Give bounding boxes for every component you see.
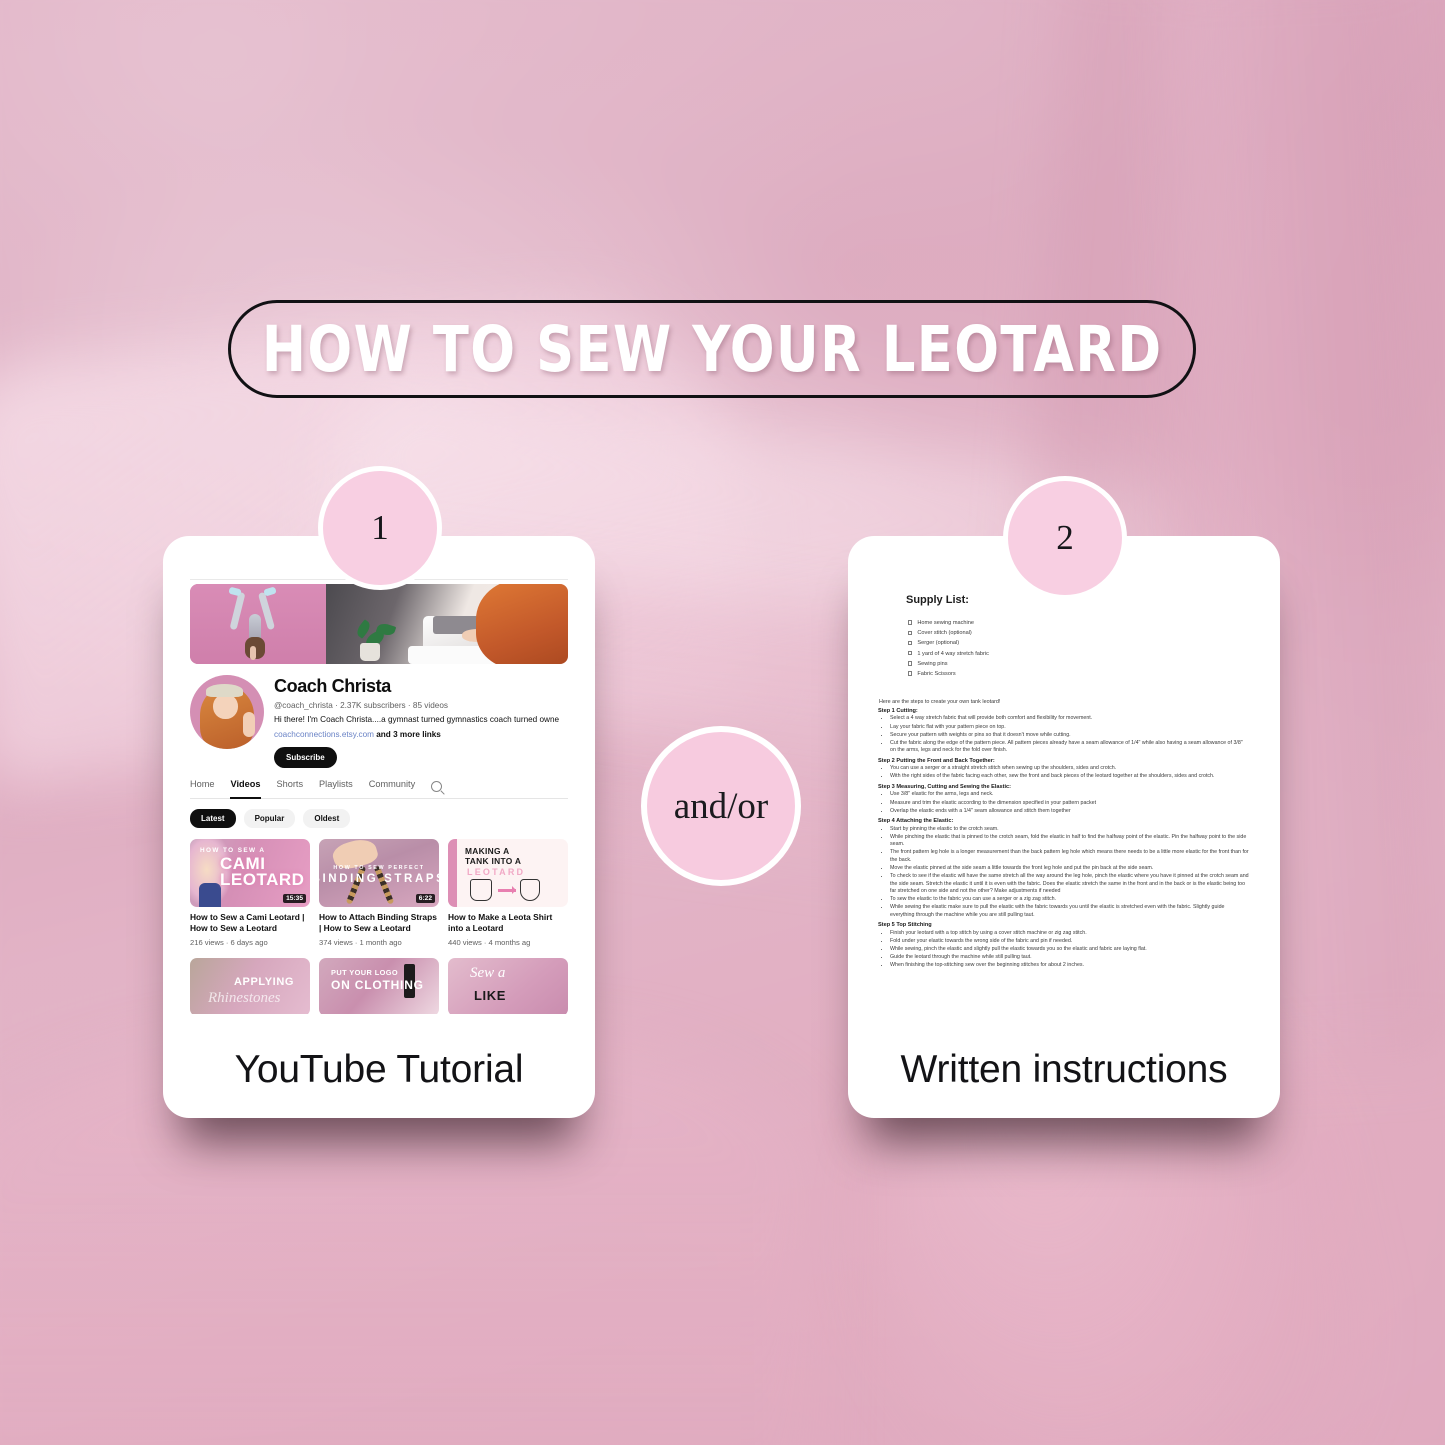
step-block: Step 3 Measuring, Cutting and Sewing the…	[878, 784, 1250, 815]
channel-tabs: Home Videos Shorts Playlists Community	[190, 779, 568, 799]
thumbnail-line-2: TANK INTO A	[465, 856, 521, 866]
youtube-tutorial-card[interactable]: Coach Christa @coach_christa · 2.37K sub…	[163, 536, 595, 1118]
step-block: Step 5 Top Stitching Finish your leotard…	[878, 922, 1250, 969]
and-or-connector: and/or	[641, 726, 801, 886]
step-block: Step 1 Cutting: Select a 4 way stretch f…	[878, 708, 1250, 755]
thumbnail-word: LEOTARD	[467, 867, 525, 877]
banner-gymnast-photo	[190, 584, 326, 664]
youtube-screenshot: Coach Christa @coach_christa · 2.37K sub…	[190, 564, 568, 1014]
checkbox-icon[interactable]	[908, 671, 912, 675]
list-item: To sew the elastic to the fabric you can…	[890, 896, 1250, 904]
tab-home[interactable]: Home	[190, 779, 215, 793]
step-badge-1: 1	[318, 466, 442, 590]
step-heading: Step 5 Top Stitching	[878, 922, 1250, 928]
chip-oldest[interactable]: Oldest	[303, 809, 350, 828]
chip-popular[interactable]: Popular	[244, 809, 296, 828]
list-item: 1 yard of 4 way stretch fabric	[908, 651, 1250, 657]
list-item: The front pattern leg hole is a longer m…	[890, 849, 1250, 864]
thumbnail-word: APPLYING	[234, 976, 294, 988]
list-item: When finishing the top-stitching sew ove…	[890, 962, 1250, 970]
list-item: With the right sides of the fabric facin…	[890, 773, 1250, 781]
thumbnail-line-2: ON CLOTHING	[331, 978, 424, 992]
written-card-caption: Written instructions	[848, 1048, 1280, 1092]
supply-item-label: Serger (optional)	[917, 640, 959, 646]
thumbnail-script: Sew a	[470, 965, 505, 982]
list-item: Home sewing machine	[908, 620, 1250, 626]
tab-videos[interactable]: Videos	[231, 779, 261, 793]
video-duration: 6:22	[416, 894, 435, 903]
list-item: Use 3/8" elastic for the arms, legs and …	[890, 791, 1250, 799]
thumbnail-main-text: BINDING STRAPS	[319, 873, 439, 885]
list-item: While pinching the elastic that is pinne…	[890, 834, 1250, 849]
step-bullets: Select a 4 way stretch fabric that will …	[890, 715, 1250, 754]
step-heading: Step 2 Putting the Front and Back Togeth…	[878, 758, 1250, 764]
thumbnail-line-1: PUT YOUR LOGO	[331, 968, 398, 977]
step-heading: Step 1 Cutting:	[878, 708, 1250, 714]
step-bullets: Start by pinning the elastic to the crot…	[890, 826, 1250, 920]
channel-links: coachconnections.etsy.com and 3 more lin…	[274, 730, 568, 739]
video-grid-row-1: HOW TO SEW A CAMI LEOTARD 15:35 How to S…	[190, 839, 568, 947]
step-badge-2: 2	[1003, 476, 1127, 600]
video-grid-row-2: APPLYING Rhinestones PUT YOUR LOGO ON CL…	[190, 958, 568, 1015]
list-item: Fold under your elastic towards the wron…	[890, 938, 1250, 946]
step-bullets: You can use a serger or a straight stret…	[890, 765, 1250, 781]
channel-banner	[190, 584, 568, 664]
instructions-intro: Here are the steps to create your own ta…	[879, 699, 1250, 705]
video-thumbnail[interactable]: HOW TO SEW A CAMI LEOTARD 15:35	[190, 839, 310, 907]
thumbnail-word: LIKE	[474, 988, 506, 1003]
thumbnail-line-1: MAKING A	[465, 846, 509, 856]
list-item: Cover stitch (optional)	[908, 630, 1250, 636]
checkbox-icon[interactable]	[908, 620, 912, 624]
list-item: To check to see if the elastic will have…	[890, 873, 1250, 896]
arrow-icon	[498, 889, 516, 892]
instructions-document: Supply List: Home sewing machine Cover s…	[878, 566, 1250, 1036]
list-item: Measure and trim the elastic according t…	[890, 800, 1250, 808]
page-title: HOW TO SEW YOUR LEOTARD	[262, 313, 1163, 386]
channel-link[interactable]: coachconnections.etsy.com	[274, 730, 374, 739]
tab-playlists[interactable]: Playlists	[319, 779, 353, 793]
supply-item-label: Cover stitch (optional)	[917, 630, 971, 636]
channel-name: Coach Christa	[274, 676, 568, 697]
supply-item-label: Home sewing machine	[917, 620, 974, 626]
subscribe-button[interactable]: Subscribe	[274, 747, 337, 768]
shirt-icon	[470, 879, 492, 901]
video-item[interactable]: HOW TO SEW A CAMI LEOTARD 15:35 How to S…	[190, 839, 310, 947]
list-item: Select a 4 way stretch fabric that will …	[890, 715, 1250, 723]
banner-sewing-photo	[326, 584, 568, 664]
supply-list: Home sewing machine Cover stitch (option…	[908, 620, 1250, 677]
list-item: Sewing pins	[908, 661, 1250, 667]
list-item: Fabric Scissors	[908, 671, 1250, 677]
channel-description: Hi there! I'm Coach Christa....a gymnast…	[274, 715, 568, 724]
checkbox-icon[interactable]	[908, 641, 912, 645]
tab-community[interactable]: Community	[369, 779, 415, 793]
list-item: Start by pinning the elastic to the crot…	[890, 826, 1250, 834]
supply-item-label: 1 yard of 4 way stretch fabric	[917, 651, 989, 657]
page-title-pill: HOW TO SEW YOUR LEOTARD	[228, 300, 1196, 398]
list-item: Cut the fabric along the edge of the pat…	[890, 740, 1250, 755]
video-item[interactable]: HOW TO SEW PERFECT BINDING STRAPS 6:22 H…	[319, 839, 439, 947]
tab-shorts[interactable]: Shorts	[276, 779, 303, 793]
step-bullets: Finish your leotard with a top stitch by…	[890, 930, 1250, 970]
channel-meta: @coach_christa · 2.37K subscribers · 85 …	[274, 701, 568, 710]
list-item: Lay your fabric flat with your pattern p…	[890, 724, 1250, 732]
thumbnail-kicker: HOW TO SEW PERFECT	[333, 865, 424, 871]
checkbox-icon[interactable]	[908, 651, 912, 655]
gymnast-figure-icon	[220, 592, 296, 656]
thumbnail-main-text: CAMI LEOTARD	[220, 856, 310, 887]
step-bullets: Use 3/8" elastic for the arms, legs and …	[890, 791, 1250, 815]
video-title[interactable]: How to Attach Binding Straps | How to Se…	[319, 912, 439, 934]
video-thumbnail[interactable]: MAKING A TANK INTO A LEOTARD	[448, 839, 568, 907]
video-thumbnail[interactable]: Sew a LIKE	[448, 958, 568, 1015]
list-item: Guide the leotard through the machine wh…	[890, 954, 1250, 962]
step-heading: Step 4 Attaching the Elastic:	[878, 818, 1250, 824]
video-duration: 15:35	[283, 894, 306, 903]
thumbnail-kicker: HOW TO SEW A	[200, 847, 265, 854]
supply-item-label: Fabric Scissors	[917, 671, 955, 677]
list-item: Serger (optional)	[908, 640, 1250, 646]
video-thumbnail[interactable]: APPLYING Rhinestones	[190, 958, 310, 1015]
search-icon[interactable]	[431, 781, 442, 792]
checkbox-icon[interactable]	[908, 661, 912, 665]
sort-chips: Latest Popular Oldest	[190, 809, 568, 828]
youtube-card-caption: YouTube Tutorial	[163, 1048, 595, 1092]
step-block: Step 4 Attaching the Elastic: Start by p…	[878, 818, 1250, 919]
checkbox-icon[interactable]	[908, 631, 912, 635]
list-item: Secure your pattern with weights or pins…	[890, 732, 1250, 740]
channel-identity: Coach Christa @coach_christa · 2.37K sub…	[190, 675, 568, 768]
list-item: You can use a serger or a straight stret…	[890, 765, 1250, 773]
step-block: Step 2 Putting the Front and Back Togeth…	[878, 758, 1250, 781]
video-meta: 374 views · 1 month ago	[319, 938, 439, 947]
avatar[interactable]	[190, 675, 264, 749]
step-heading: Step 3 Measuring, Cutting and Sewing the…	[878, 784, 1250, 790]
video-title[interactable]: How to Make a Leota Shirt into a Leotard	[448, 912, 568, 934]
list-item: While sewing the elastic make sure to pu…	[890, 904, 1250, 919]
list-item: While sewing, pinch the elastic and slig…	[890, 946, 1250, 954]
leotard-icon	[520, 879, 540, 901]
list-item: Overlap the elastic ends with a 1/4" sea…	[890, 808, 1250, 816]
channel-more-links[interactable]: and 3 more links	[376, 730, 441, 739]
chip-latest[interactable]: Latest	[190, 809, 236, 828]
video-meta: 440 views · 4 months ag	[448, 938, 568, 947]
video-thumbnail[interactable]: HOW TO SEW PERFECT BINDING STRAPS 6:22	[319, 839, 439, 907]
written-instructions-card[interactable]: Supply List: Home sewing machine Cover s…	[848, 536, 1280, 1118]
list-item: Finish your leotard with a top stitch by…	[890, 930, 1250, 938]
supply-item-label: Sewing pins	[917, 661, 947, 667]
video-thumbnail[interactable]: PUT YOUR LOGO ON CLOTHING	[319, 958, 439, 1015]
video-meta: 216 views · 6 days ago	[190, 938, 310, 947]
video-title[interactable]: How to Sew a Cami Leotard | How to Sew a…	[190, 912, 310, 934]
thumbnail-script: Rhinestones	[208, 990, 281, 1007]
list-item: Move the elastic pinned at the side seam…	[890, 865, 1250, 873]
video-item[interactable]: MAKING A TANK INTO A LEOTARD How to Make…	[448, 839, 568, 947]
